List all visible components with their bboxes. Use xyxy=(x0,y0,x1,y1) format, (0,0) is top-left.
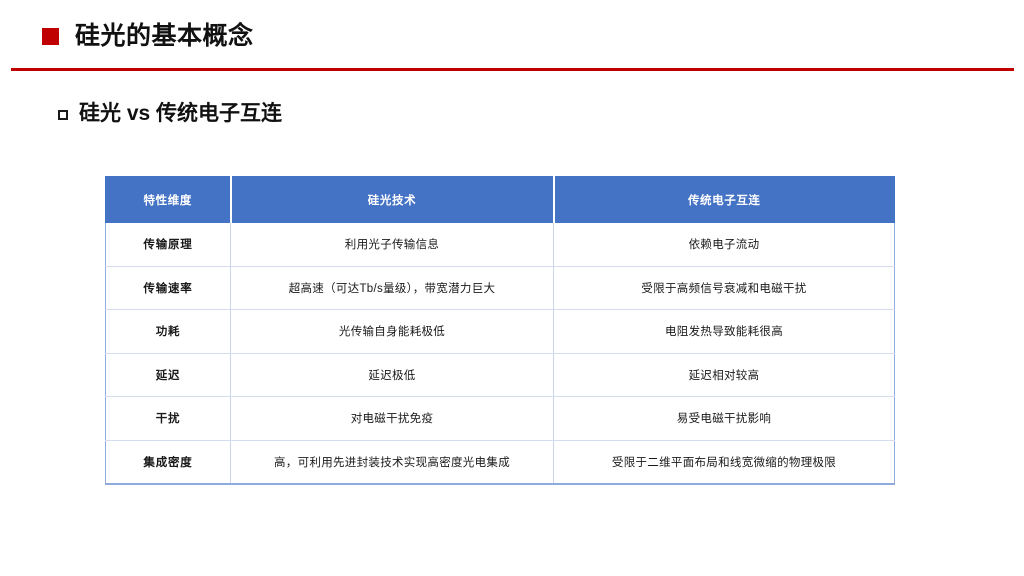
cell-dimension: 功耗 xyxy=(106,310,231,354)
comparison-table-container: 特性维度 硅光技术 传统电子互连 传输原理 利用光子传输信息 依赖电子流动 传输… xyxy=(105,176,894,485)
cell-silicon-photonics: 高，可利用先进封装技术实现高密度光电集成 xyxy=(231,440,554,484)
cell-silicon-photonics: 超高速（可达Tb/s量级），带宽潜力巨大 xyxy=(231,266,554,310)
cell-dimension: 延迟 xyxy=(106,353,231,397)
cell-silicon-photonics: 对电磁干扰免疫 xyxy=(231,397,554,441)
cell-silicon-photonics: 光传输自身能耗极低 xyxy=(231,310,554,354)
cell-electronic: 依赖电子流动 xyxy=(554,223,895,267)
table-row: 延迟 延迟极低 延迟相对较高 xyxy=(106,353,895,397)
square-bullet-icon xyxy=(42,28,59,45)
cell-dimension: 干扰 xyxy=(106,397,231,441)
cell-electronic: 易受电磁干扰影响 xyxy=(554,397,895,441)
column-header-dimension: 特性维度 xyxy=(106,177,231,223)
table-row: 传输速率 超高速（可达Tb/s量级），带宽潜力巨大 受限于高频信号衰减和电磁干扰 xyxy=(106,266,895,310)
column-header-electronic: 传统电子互连 xyxy=(554,177,895,223)
cell-silicon-photonics: 利用光子传输信息 xyxy=(231,223,554,267)
table-row: 集成密度 高，可利用先进封装技术实现高密度光电集成 受限于二维平面布局和线宽微缩… xyxy=(106,440,895,484)
cell-electronic: 延迟相对较高 xyxy=(554,353,895,397)
slide-title-block: 硅光的基本概念 xyxy=(42,24,254,49)
cell-electronic: 受限于高频信号衰减和电磁干扰 xyxy=(554,266,895,310)
sub-heading-block: 硅光 vs 传统电子互连 xyxy=(58,103,282,124)
page-title: 硅光的基本概念 xyxy=(75,24,254,49)
sub-heading-label: 硅光 vs 传统电子互连 xyxy=(79,103,282,124)
cell-silicon-photonics: 延迟极低 xyxy=(231,353,554,397)
comparison-table: 特性维度 硅光技术 传统电子互连 传输原理 利用光子传输信息 依赖电子流动 传输… xyxy=(105,176,895,485)
table-row: 传输原理 利用光子传输信息 依赖电子流动 xyxy=(106,223,895,267)
title-divider-rule xyxy=(11,68,1014,71)
hollow-square-bullet-icon xyxy=(58,110,68,120)
cell-electronic: 电阻发热导致能耗很高 xyxy=(554,310,895,354)
table-header-row: 特性维度 硅光技术 传统电子互连 xyxy=(106,177,895,223)
table-body: 传输原理 利用光子传输信息 依赖电子流动 传输速率 超高速（可达Tb/s量级），… xyxy=(106,223,895,485)
table-row: 干扰 对电磁干扰免疫 易受电磁干扰影响 xyxy=(106,397,895,441)
table-row: 功耗 光传输自身能耗极低 电阻发热导致能耗很高 xyxy=(106,310,895,354)
cell-dimension: 传输速率 xyxy=(106,266,231,310)
cell-electronic: 受限于二维平面布局和线宽微缩的物理极限 xyxy=(554,440,895,484)
table-header: 特性维度 硅光技术 传统电子互连 xyxy=(106,177,895,223)
column-header-silicon-photonics: 硅光技术 xyxy=(231,177,554,223)
cell-dimension: 传输原理 xyxy=(106,223,231,267)
cell-dimension: 集成密度 xyxy=(106,440,231,484)
